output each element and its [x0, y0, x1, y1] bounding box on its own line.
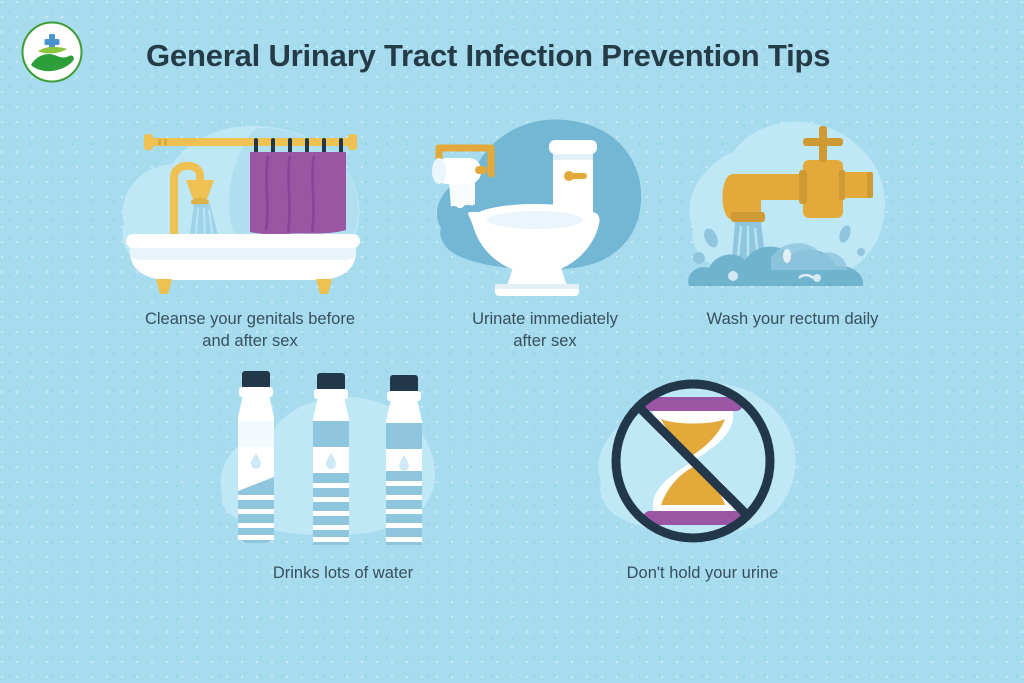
faucet-water-icon	[675, 108, 910, 298]
caption-line: Wash your rectum daily	[675, 308, 910, 330]
caption-line: after sex	[425, 330, 665, 352]
tip-caption-hold: Don't hold your urine	[585, 562, 820, 584]
tip-card-water: Drinks lots of water	[212, 365, 474, 555]
caption-line: Urinate immediately	[425, 308, 665, 330]
caption-line: Don't hold your urine	[585, 562, 820, 584]
no-hourglass-icon	[585, 365, 820, 555]
bathtub-shower-icon	[110, 108, 390, 298]
page-title: General Urinary Tract Infection Preventi…	[146, 36, 906, 76]
tip-caption-water: Drinks lots of water	[212, 562, 474, 584]
caption-line: Cleanse your genitals before	[110, 308, 390, 330]
health-hand-cross-logo	[21, 21, 83, 83]
tip-card-cleanse: Cleanse your genitals before and after s…	[110, 108, 390, 298]
tip-card-urinate: Urinate immediately after sex	[425, 108, 665, 298]
tip-caption-cleanse: Cleanse your genitals before and after s…	[110, 308, 390, 352]
caption-line: and after sex	[110, 330, 390, 352]
toilet-icon	[425, 108, 665, 298]
tip-card-wash: Wash your rectum daily	[675, 108, 910, 298]
water-bottles-icon	[212, 365, 474, 555]
caption-line: Drinks lots of water	[212, 562, 474, 584]
tip-card-hold: Don't hold your urine	[585, 365, 820, 555]
infographic-page: General Urinary Tract Infection Preventi…	[0, 0, 1024, 683]
tip-caption-wash: Wash your rectum daily	[675, 308, 910, 330]
tip-caption-urinate: Urinate immediately after sex	[425, 308, 665, 352]
